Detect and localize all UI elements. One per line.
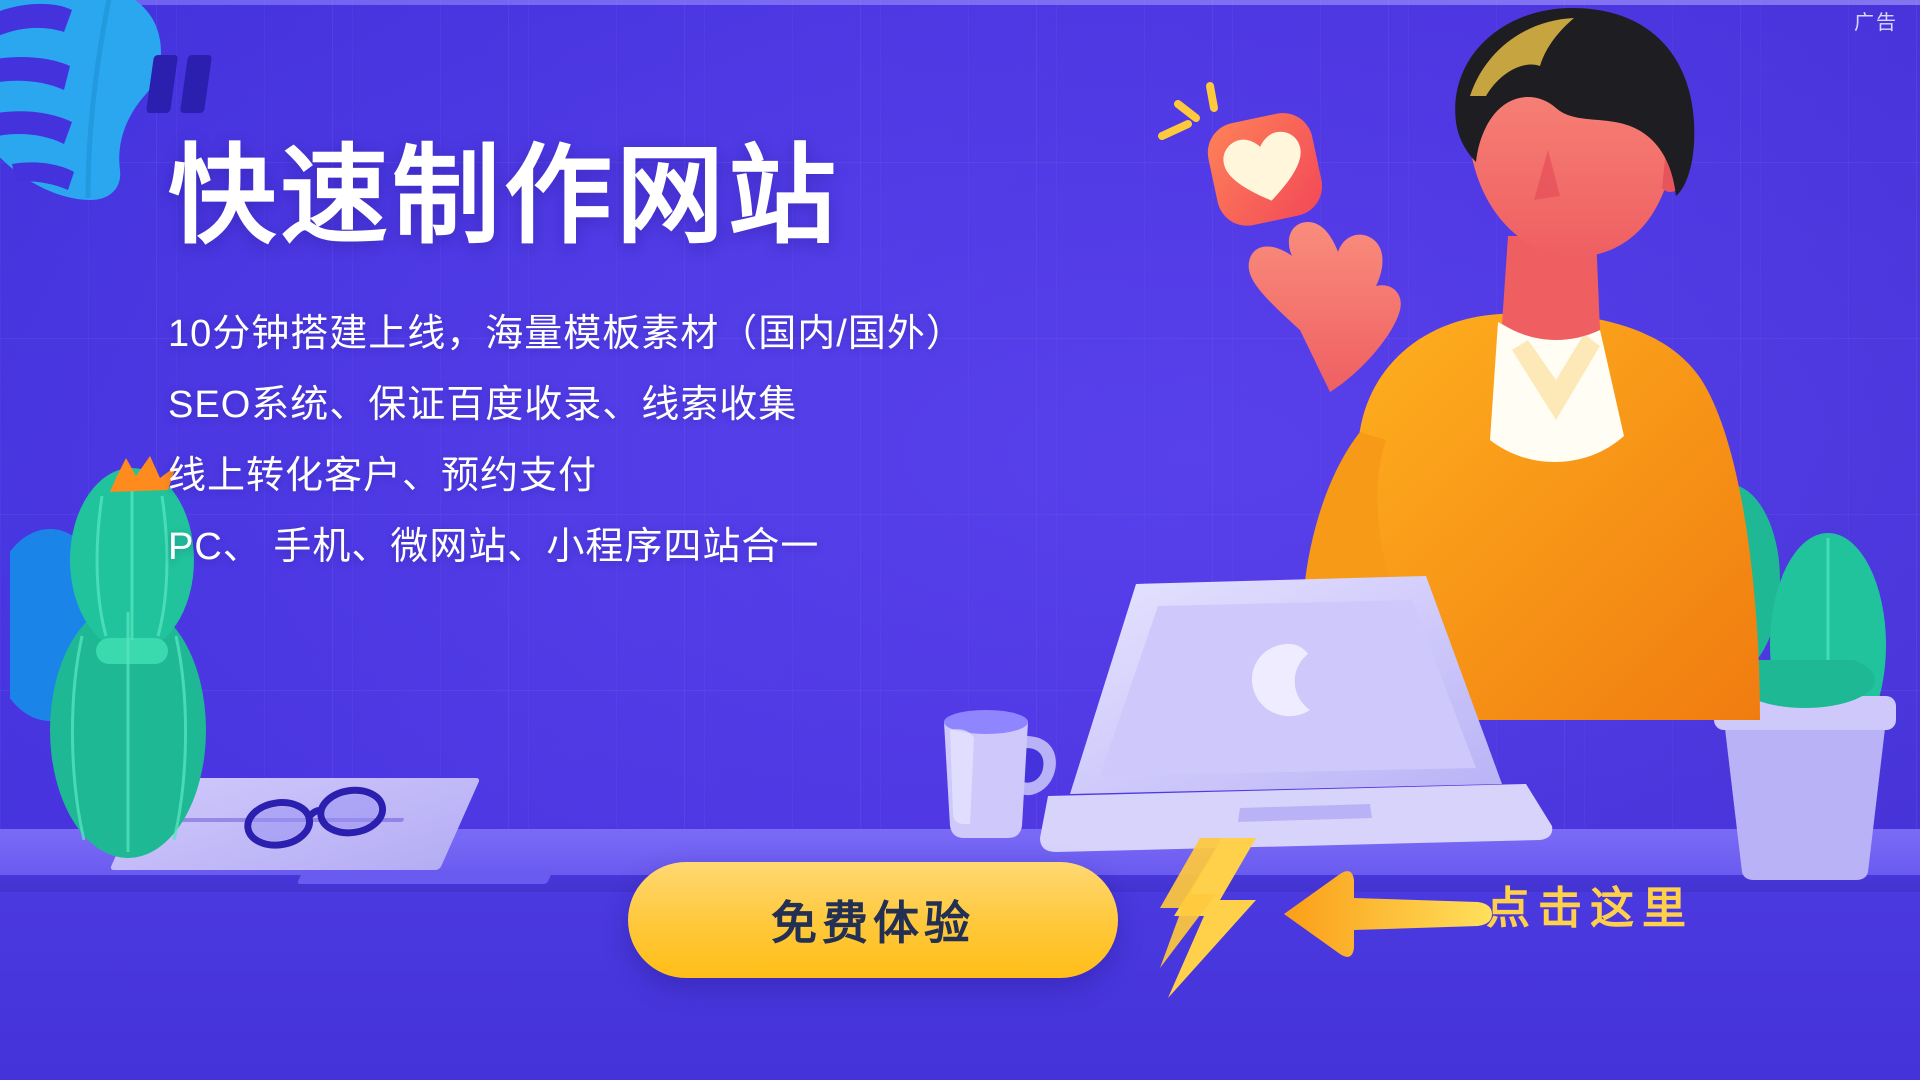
feature-list: 10分钟搭建上线，海量模板素材（国内/国外） SEO系统、保证百度收录、线索收集… [168,315,1028,566]
feature-item: 线上转化客户、预约支付 [168,457,1028,495]
feature-item: 10分钟搭建上线，海量模板素材（国内/国外） [168,315,1028,353]
laptop-icon [1040,570,1560,860]
copy-block: 快速制作网站 10分钟搭建上线，海量模板素材（国内/国外） SEO系统、保证百度… [168,138,1028,599]
left-arrow-icon [1282,868,1492,960]
ad-label: 广告 [1854,6,1898,35]
coffee-mug-icon [930,700,1060,840]
click-here-hint: 点击这里 [1486,872,1694,936]
page-title: 快速制作网站 [168,138,1028,255]
desk-paper-secondary [297,870,553,884]
feature-item: PC、 手机、微网站、小程序四站合一 [168,528,1028,566]
lightning-bolt-icon [1160,838,1270,998]
free-trial-button-label: 免费体验 [771,887,975,953]
quote-mark-icon [150,55,218,118]
free-trial-button[interactable]: 免费体验 [628,862,1118,978]
advertisement-banner[interactable]: 快速制作网站 10分钟搭建上线，海量模板素材（国内/国外） SEO系统、保证百度… [0,0,1920,1080]
feature-item: SEO系统、保证百度收录、线索收集 [168,386,1028,424]
